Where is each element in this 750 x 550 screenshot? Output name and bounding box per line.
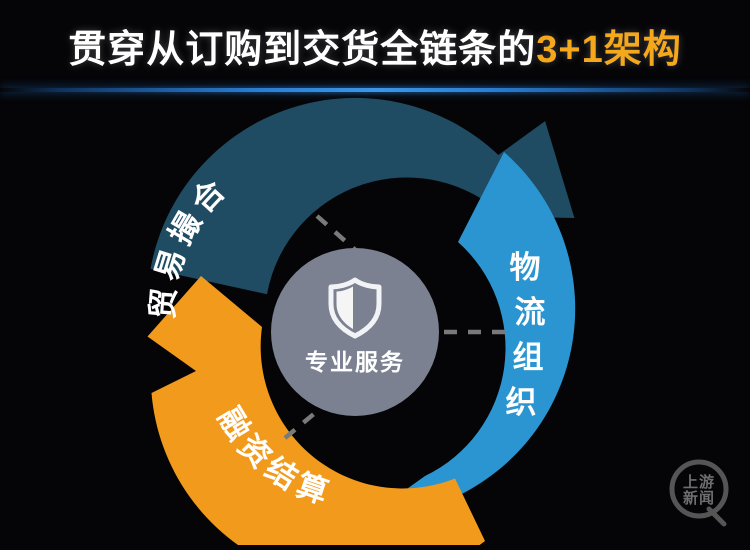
watermark-line-1: 上游 [683, 475, 715, 491]
page-title-prefix: 贯穿从订购到交货全链条的 [68, 29, 536, 71]
center-label: 专业服务 [305, 349, 405, 375]
cycle-diagram: 专业服务 贸易撮合 融资结算 物 流 组 织 [125, 95, 585, 545]
segment-logistics-char-3: 织 [506, 385, 537, 420]
title-divider [0, 88, 750, 92]
cycle-diagram-svg: 专业服务 贸易撮合 融资结算 物 流 组 织 [125, 95, 585, 545]
slide-canvas: 贯穿从订购到交货全链条的3+1架构 [0, 0, 750, 550]
watermark-logo: 上游 新闻 [662, 454, 736, 528]
watermark-line-2: 新闻 [683, 491, 715, 507]
title-bar: 贯穿从订购到交货全链条的3+1架构 [0, 0, 750, 90]
segment-logistics-char-2: 组 [513, 340, 544, 375]
page-title: 贯穿从订购到交货全链条的3+1架构 [68, 18, 681, 73]
segment-logistics-char-0: 物 [510, 250, 541, 285]
segment-logistics-char-1: 流 [515, 295, 546, 330]
center-circle [271, 248, 439, 416]
page-title-accent: 3+1架构 [536, 29, 681, 71]
center-node[interactable]: 专业服务 [271, 248, 439, 416]
watermark-text: 上游 新闻 [662, 454, 736, 528]
